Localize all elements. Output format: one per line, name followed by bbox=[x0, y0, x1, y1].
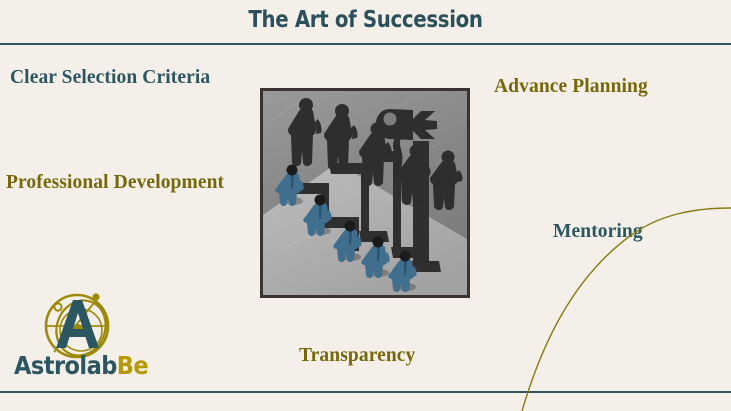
slide-canvas: The Art of Succession Clear Selection Cr… bbox=[0, 0, 731, 411]
keyword-mentoring: Mentoring bbox=[553, 221, 643, 243]
divider-top bbox=[0, 43, 731, 45]
keyword-transparency: Transparency bbox=[299, 345, 415, 367]
keyword-clear-selection-criteria: Clear Selection Criteria bbox=[10, 67, 210, 89]
succession-illustration-graphic bbox=[263, 91, 467, 295]
keyword-professional-development: Professional Development bbox=[6, 172, 224, 194]
keyword-advance-planning: Advance Planning bbox=[494, 76, 648, 98]
page-title: The Art of Succession bbox=[51, 7, 680, 33]
brand-name-primary: Astrolab bbox=[14, 351, 117, 380]
brand-wordmark: AstrolabBe bbox=[14, 351, 148, 380]
brand-name-secondary: Be bbox=[117, 351, 148, 380]
succession-illustration bbox=[260, 88, 470, 298]
brand-logo[interactable]: AstrolabBe bbox=[14, 288, 164, 392]
